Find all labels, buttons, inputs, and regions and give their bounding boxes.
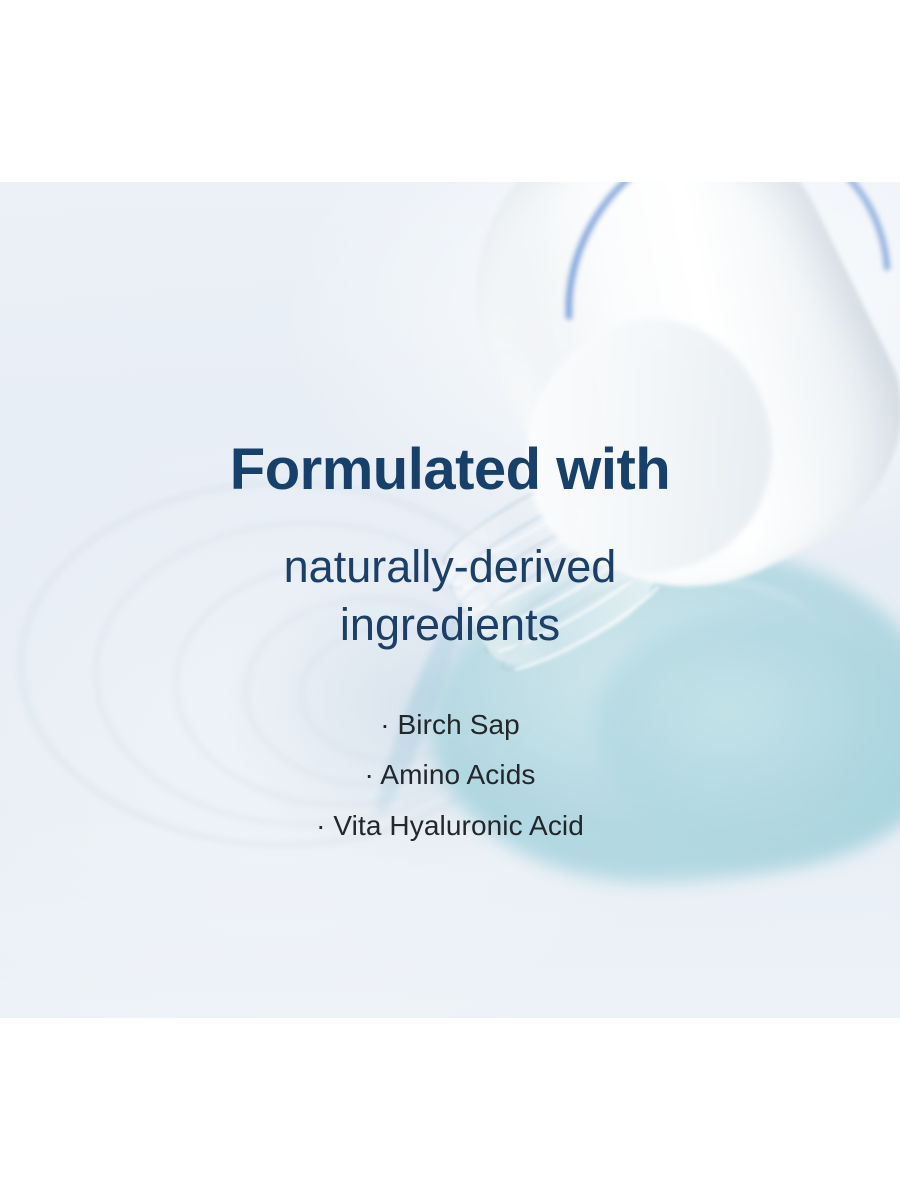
product-photo bbox=[0, 182, 900, 1018]
product-marketing-image: Formulated with naturally-derived ingred… bbox=[0, 0, 900, 1200]
